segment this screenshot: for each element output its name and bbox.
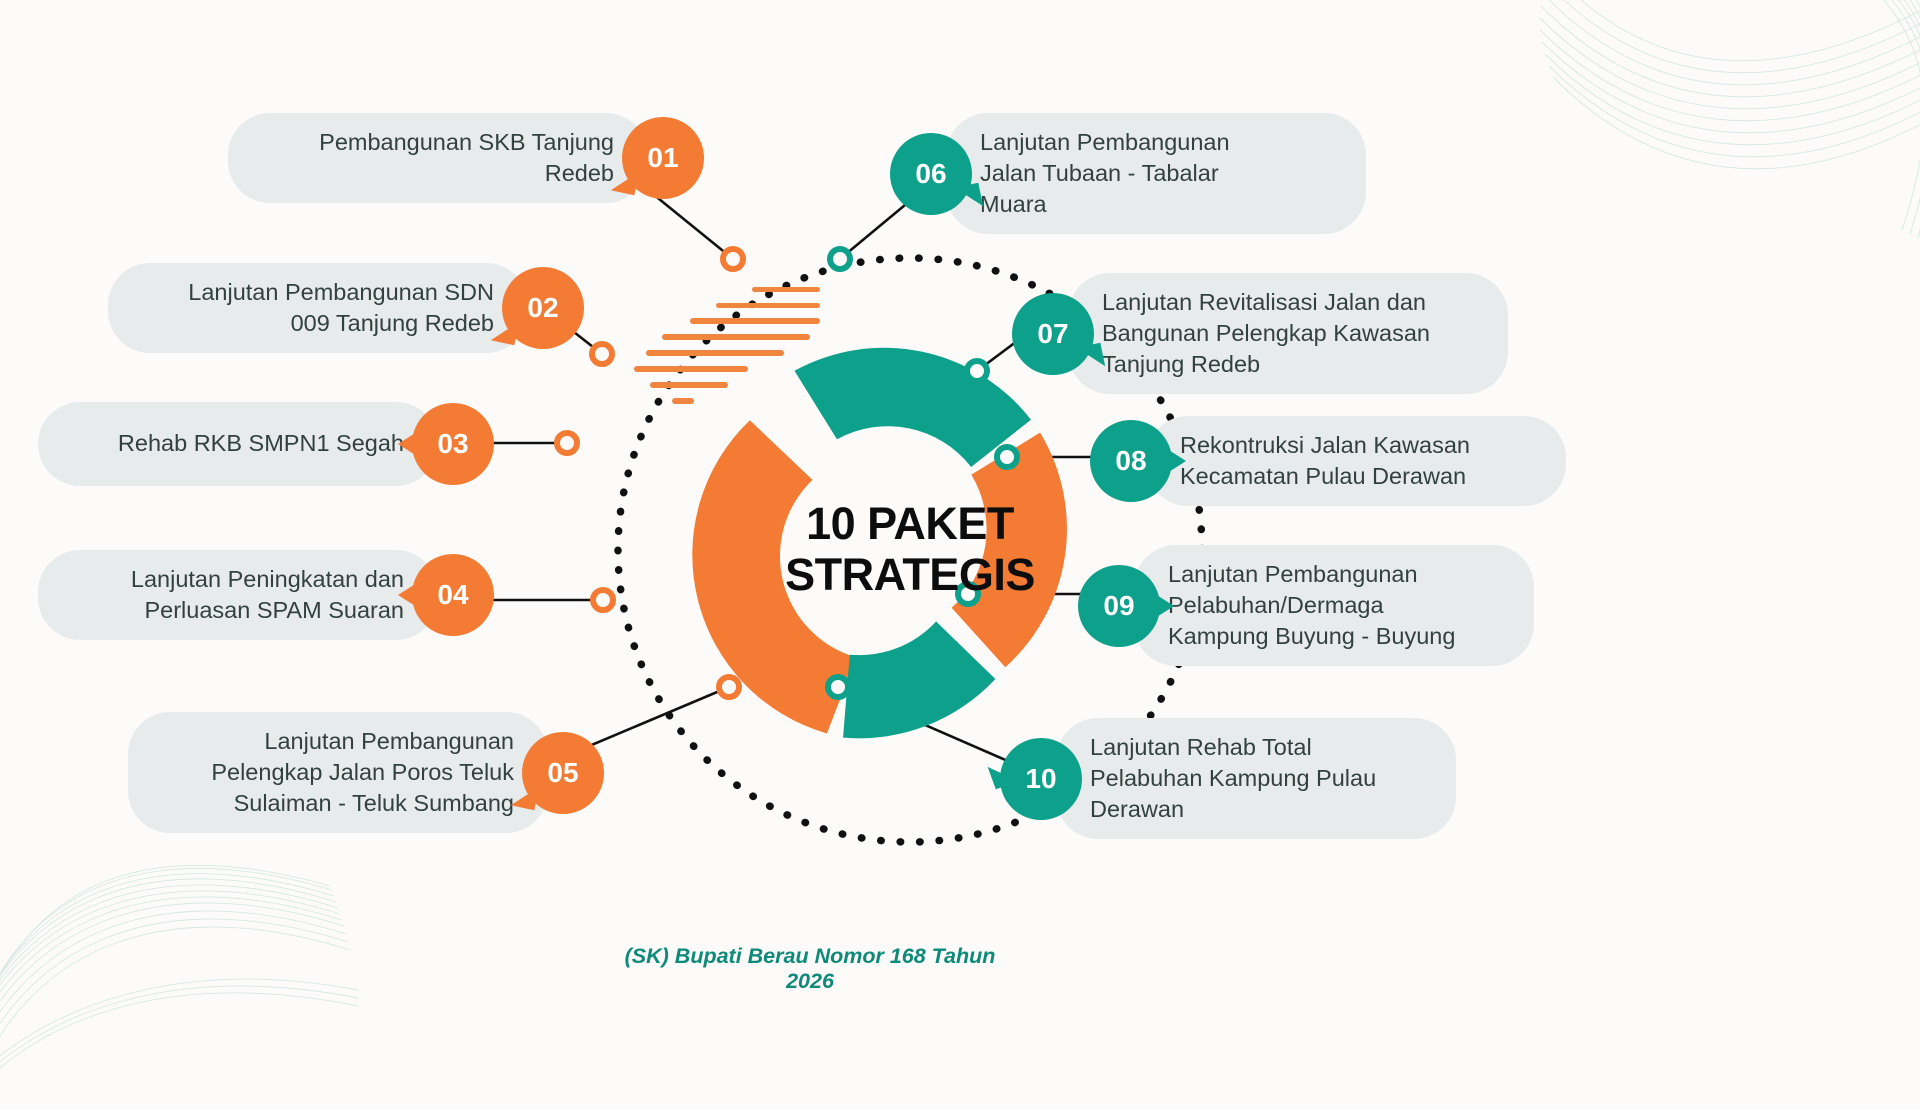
item-06[interactable]: 06 Lanjutan Pembangunan Jalan Tubaan - T… (890, 113, 1366, 234)
item-09-number: 09 (1103, 590, 1134, 622)
item-04-badge[interactable]: 04 (412, 554, 494, 636)
item-02-pill: Lanjutan Pembangunan SDN 009 Tanjung Red… (108, 263, 528, 353)
orbit-node-06 (830, 249, 850, 269)
item-02-badge[interactable]: 02 (502, 267, 584, 349)
item-08[interactable]: 08 Rekontruksi Jalan Kawasan Kecamatan P… (1090, 416, 1566, 506)
orbit-node-02 (592, 344, 612, 364)
item-04-pill: Lanjutan Peningkatan dan Perluasan SPAM … (38, 550, 438, 640)
item-09-badge-tail (1152, 592, 1174, 620)
item-05-pill: Lanjutan Pembangunan Pelengkap Jalan Por… (128, 712, 548, 833)
item-06-label: Lanjutan Pembangunan Jalan Tubaan - Taba… (980, 127, 1332, 220)
item-02-badge-tail (491, 317, 519, 345)
item-01-pill: Pembangunan SKB Tanjung Redeb (228, 113, 648, 203)
item-07-number: 07 (1037, 318, 1068, 350)
item-07-pill: Lanjutan Revitalisasi Jalan dan Bangunan… (1068, 273, 1508, 394)
item-03-pill: Rehab RKB SMPN1 Segah (38, 402, 438, 486)
item-10-badge[interactable]: 10 (1000, 738, 1082, 820)
item-10-number: 10 (1025, 763, 1056, 795)
item-02[interactable]: Lanjutan Pembangunan SDN 009 Tanjung Red… (108, 263, 584, 353)
item-10[interactable]: 10 Lanjutan Rehab Total Pelabuhan Kampun… (1000, 718, 1456, 839)
item-07-badge[interactable]: 07 (1012, 293, 1094, 375)
item-04-number: 04 (437, 579, 468, 611)
item-01-label: Pembangunan SKB Tanjung Redeb (262, 127, 614, 189)
item-10-label: Lanjutan Rehab Total Pelabuhan Kampung P… (1090, 732, 1422, 825)
item-08-badge[interactable]: 08 (1090, 420, 1172, 502)
item-03-number: 03 (437, 428, 468, 460)
center-title-line-2: STRATEGIS (785, 550, 1035, 601)
center-title-line-1: 10 PAKET (806, 499, 1014, 550)
item-04[interactable]: Lanjutan Peningkatan dan Perluasan SPAM … (38, 550, 494, 640)
item-01-number: 01 (647, 142, 678, 174)
item-05-label: Lanjutan Pembangunan Pelengkap Jalan Por… (162, 726, 514, 819)
item-03-badge[interactable]: 03 (412, 403, 494, 485)
item-06-number: 06 (915, 158, 946, 190)
item-02-number: 02 (527, 292, 558, 324)
infographic-canvas: 10 PAKET STRATEGIS Pembangunan SKB Tanju… (0, 0, 1920, 1080)
item-07[interactable]: 07 Lanjutan Revitalisasi Jalan dan Bangu… (1012, 273, 1508, 394)
item-09-pill: Lanjutan Pembangunan Pelabuhan/Dermaga K… (1134, 545, 1534, 666)
orbit-node-03 (557, 433, 577, 453)
item-03-badge-tail (398, 430, 420, 458)
orbit-node-01 (723, 249, 743, 269)
item-08-badge-tail (1164, 447, 1186, 475)
item-07-label: Lanjutan Revitalisasi Jalan dan Bangunan… (1102, 287, 1474, 380)
item-01-badge[interactable]: 01 (622, 117, 704, 199)
item-06-badge-tail (955, 182, 983, 210)
item-07-badge-tail (1077, 342, 1105, 370)
item-04-badge-tail (398, 581, 420, 609)
item-05-number: 05 (547, 757, 578, 789)
item-09-label: Lanjutan Pembangunan Pelabuhan/Dermaga K… (1168, 559, 1500, 652)
item-05[interactable]: Lanjutan Pembangunan Pelengkap Jalan Por… (128, 712, 604, 833)
item-06-badge[interactable]: 06 (890, 133, 972, 215)
source-caption: (SK) Bupati Berau Nomor 168 Tahun 2026 (600, 944, 1020, 994)
item-09[interactable]: 09 Lanjutan Pembangunan Pelabuhan/Dermag… (1078, 545, 1534, 666)
item-08-label: Rekontruksi Jalan Kawasan Kecamatan Pula… (1180, 430, 1532, 492)
orbit-node-04 (593, 590, 613, 610)
item-04-label: Lanjutan Peningkatan dan Perluasan SPAM … (72, 564, 404, 626)
item-02-label: Lanjutan Pembangunan SDN 009 Tanjung Red… (142, 277, 494, 339)
item-01[interactable]: Pembangunan SKB Tanjung Redeb 01 (228, 113, 704, 203)
item-03[interactable]: Rehab RKB SMPN1 Segah 03 (38, 402, 494, 486)
item-03-label: Rehab RKB SMPN1 Segah (72, 428, 404, 459)
item-01-badge-tail (611, 167, 639, 195)
item-09-badge[interactable]: 09 (1078, 565, 1160, 647)
item-08-pill: Rekontruksi Jalan Kawasan Kecamatan Pula… (1146, 416, 1566, 506)
item-05-badge[interactable]: 05 (522, 732, 604, 814)
item-06-pill: Lanjutan Pembangunan Jalan Tubaan - Taba… (946, 113, 1366, 234)
item-10-pill: Lanjutan Rehab Total Pelabuhan Kampung P… (1056, 718, 1456, 839)
item-05-badge-tail (511, 781, 539, 809)
item-08-number: 08 (1115, 445, 1146, 477)
